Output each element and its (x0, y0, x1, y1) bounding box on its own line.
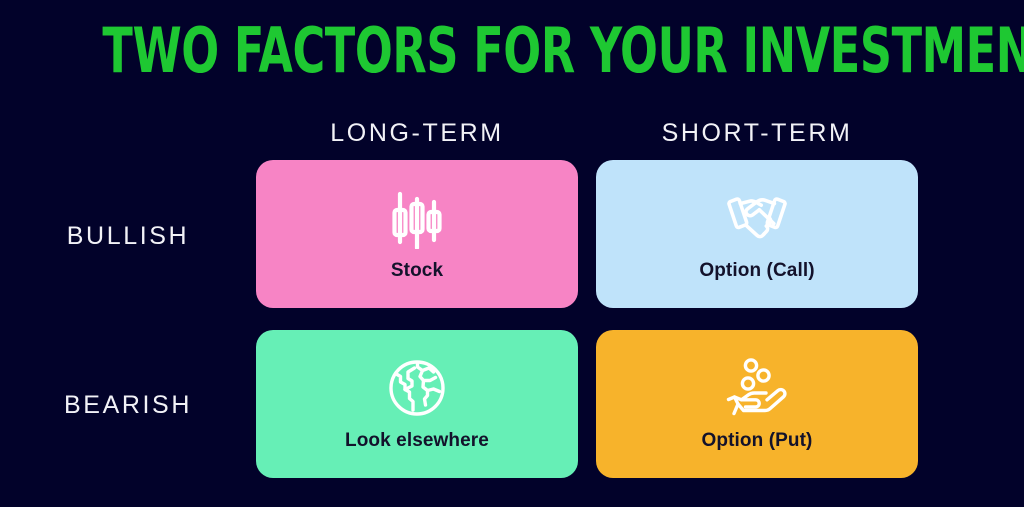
matrix-row-bearish: Look elsewhere Option (Put) (256, 330, 918, 478)
column-header-short-term: SHORT-TERM (596, 118, 918, 160)
card-label-option-put: Option (Put) (702, 430, 813, 452)
card-stock[interactable]: Stock (256, 160, 578, 308)
card-option-put[interactable]: Option (Put) (596, 330, 918, 478)
row-label-bullish: BULLISH (0, 222, 256, 251)
column-header-long-term: LONG-TERM (256, 118, 578, 160)
candlestick-chart-icon (380, 181, 454, 255)
matrix-row-bullish: Stock Option (Call) (256, 160, 918, 308)
card-label-look-elsewhere: Look elsewhere (345, 430, 489, 452)
globe-icon (380, 351, 454, 425)
matrix-grid: LONG-TERM SHORT-TERM Stock (256, 118, 918, 500)
handshake-icon (720, 181, 794, 255)
infographic-canvas: TWO FACTORS FOR YOUR INVESTMENT BULLISH … (0, 0, 1024, 507)
card-label-option-call: Option (Call) (699, 260, 814, 282)
page-title: TWO FACTORS FOR YOUR INVESTMENT (102, 19, 921, 83)
row-label-bearish: BEARISH (0, 391, 256, 420)
card-look-elsewhere[interactable]: Look elsewhere (256, 330, 578, 478)
column-header-row: LONG-TERM SHORT-TERM (256, 118, 918, 160)
card-option-call[interactable]: Option (Call) (596, 160, 918, 308)
hand-coins-icon (720, 351, 794, 425)
card-label-stock: Stock (391, 260, 443, 282)
